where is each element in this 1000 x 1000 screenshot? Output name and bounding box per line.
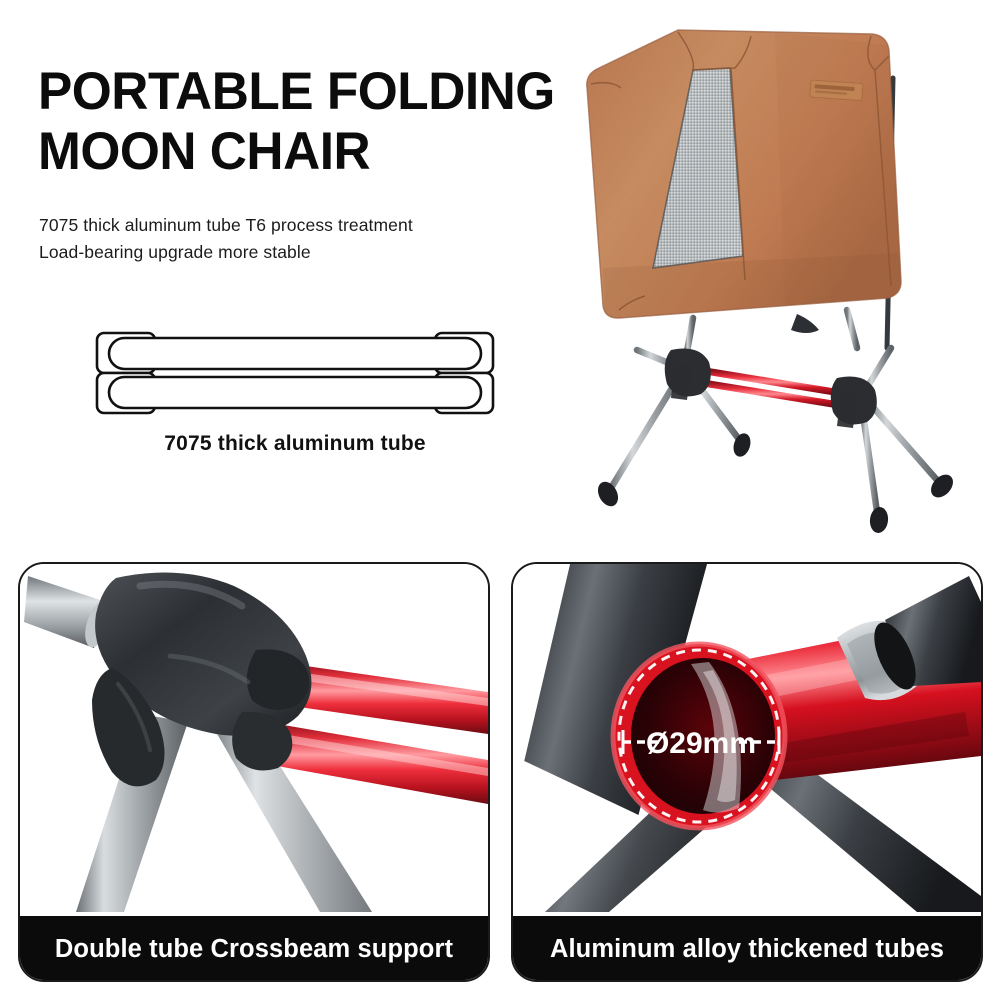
aluminum-tube-diameter-image: Ø29mm bbox=[513, 564, 981, 912]
diameter-label: Ø29mm bbox=[646, 727, 756, 760]
chair-product-image bbox=[575, 18, 990, 548]
feature-panel-double-tube-crossbeam: Double tube Crossbeam support bbox=[18, 562, 490, 982]
chair-feet bbox=[594, 431, 957, 534]
headline-line-1: PORTABLE FOLDING bbox=[38, 62, 581, 122]
brand-label bbox=[810, 80, 863, 101]
headline-line-2: MOON CHAIR bbox=[38, 122, 581, 182]
diameter-annotation: Ø29mm bbox=[623, 727, 779, 760]
product-infographic: PORTABLE FOLDING MOON CHAIR 7075 thick a… bbox=[0, 0, 1000, 1000]
double-tube-crossbeam-image bbox=[20, 564, 488, 912]
seat-corner-pocket bbox=[791, 314, 819, 333]
subtitle-line-2: Load-bearing upgrade more stable bbox=[39, 239, 559, 266]
feature-panel-aluminum-alloy-tubes: Ø29mm Aluminum alloy thickened tubes bbox=[511, 562, 983, 982]
panel-caption-aluminum-tubes: Aluminum alloy thickened tubes bbox=[511, 916, 983, 982]
hub-connector-right bbox=[831, 377, 877, 429]
crossbeam-red-tubes bbox=[697, 370, 847, 406]
subtitle-line-1: 7075 thick aluminum tube T6 process trea… bbox=[39, 212, 559, 239]
subtitle: 7075 thick aluminum tube T6 process trea… bbox=[39, 212, 559, 266]
page-title: PORTABLE FOLDING MOON CHAIR bbox=[38, 62, 598, 182]
panel-caption-double-tube: Double tube Crossbeam support bbox=[18, 916, 490, 982]
chair-seat-fabric bbox=[587, 30, 907, 324]
tube-diagram-caption: 7075 thick aluminum tube bbox=[95, 432, 495, 456]
tube-diagram bbox=[95, 328, 495, 418]
